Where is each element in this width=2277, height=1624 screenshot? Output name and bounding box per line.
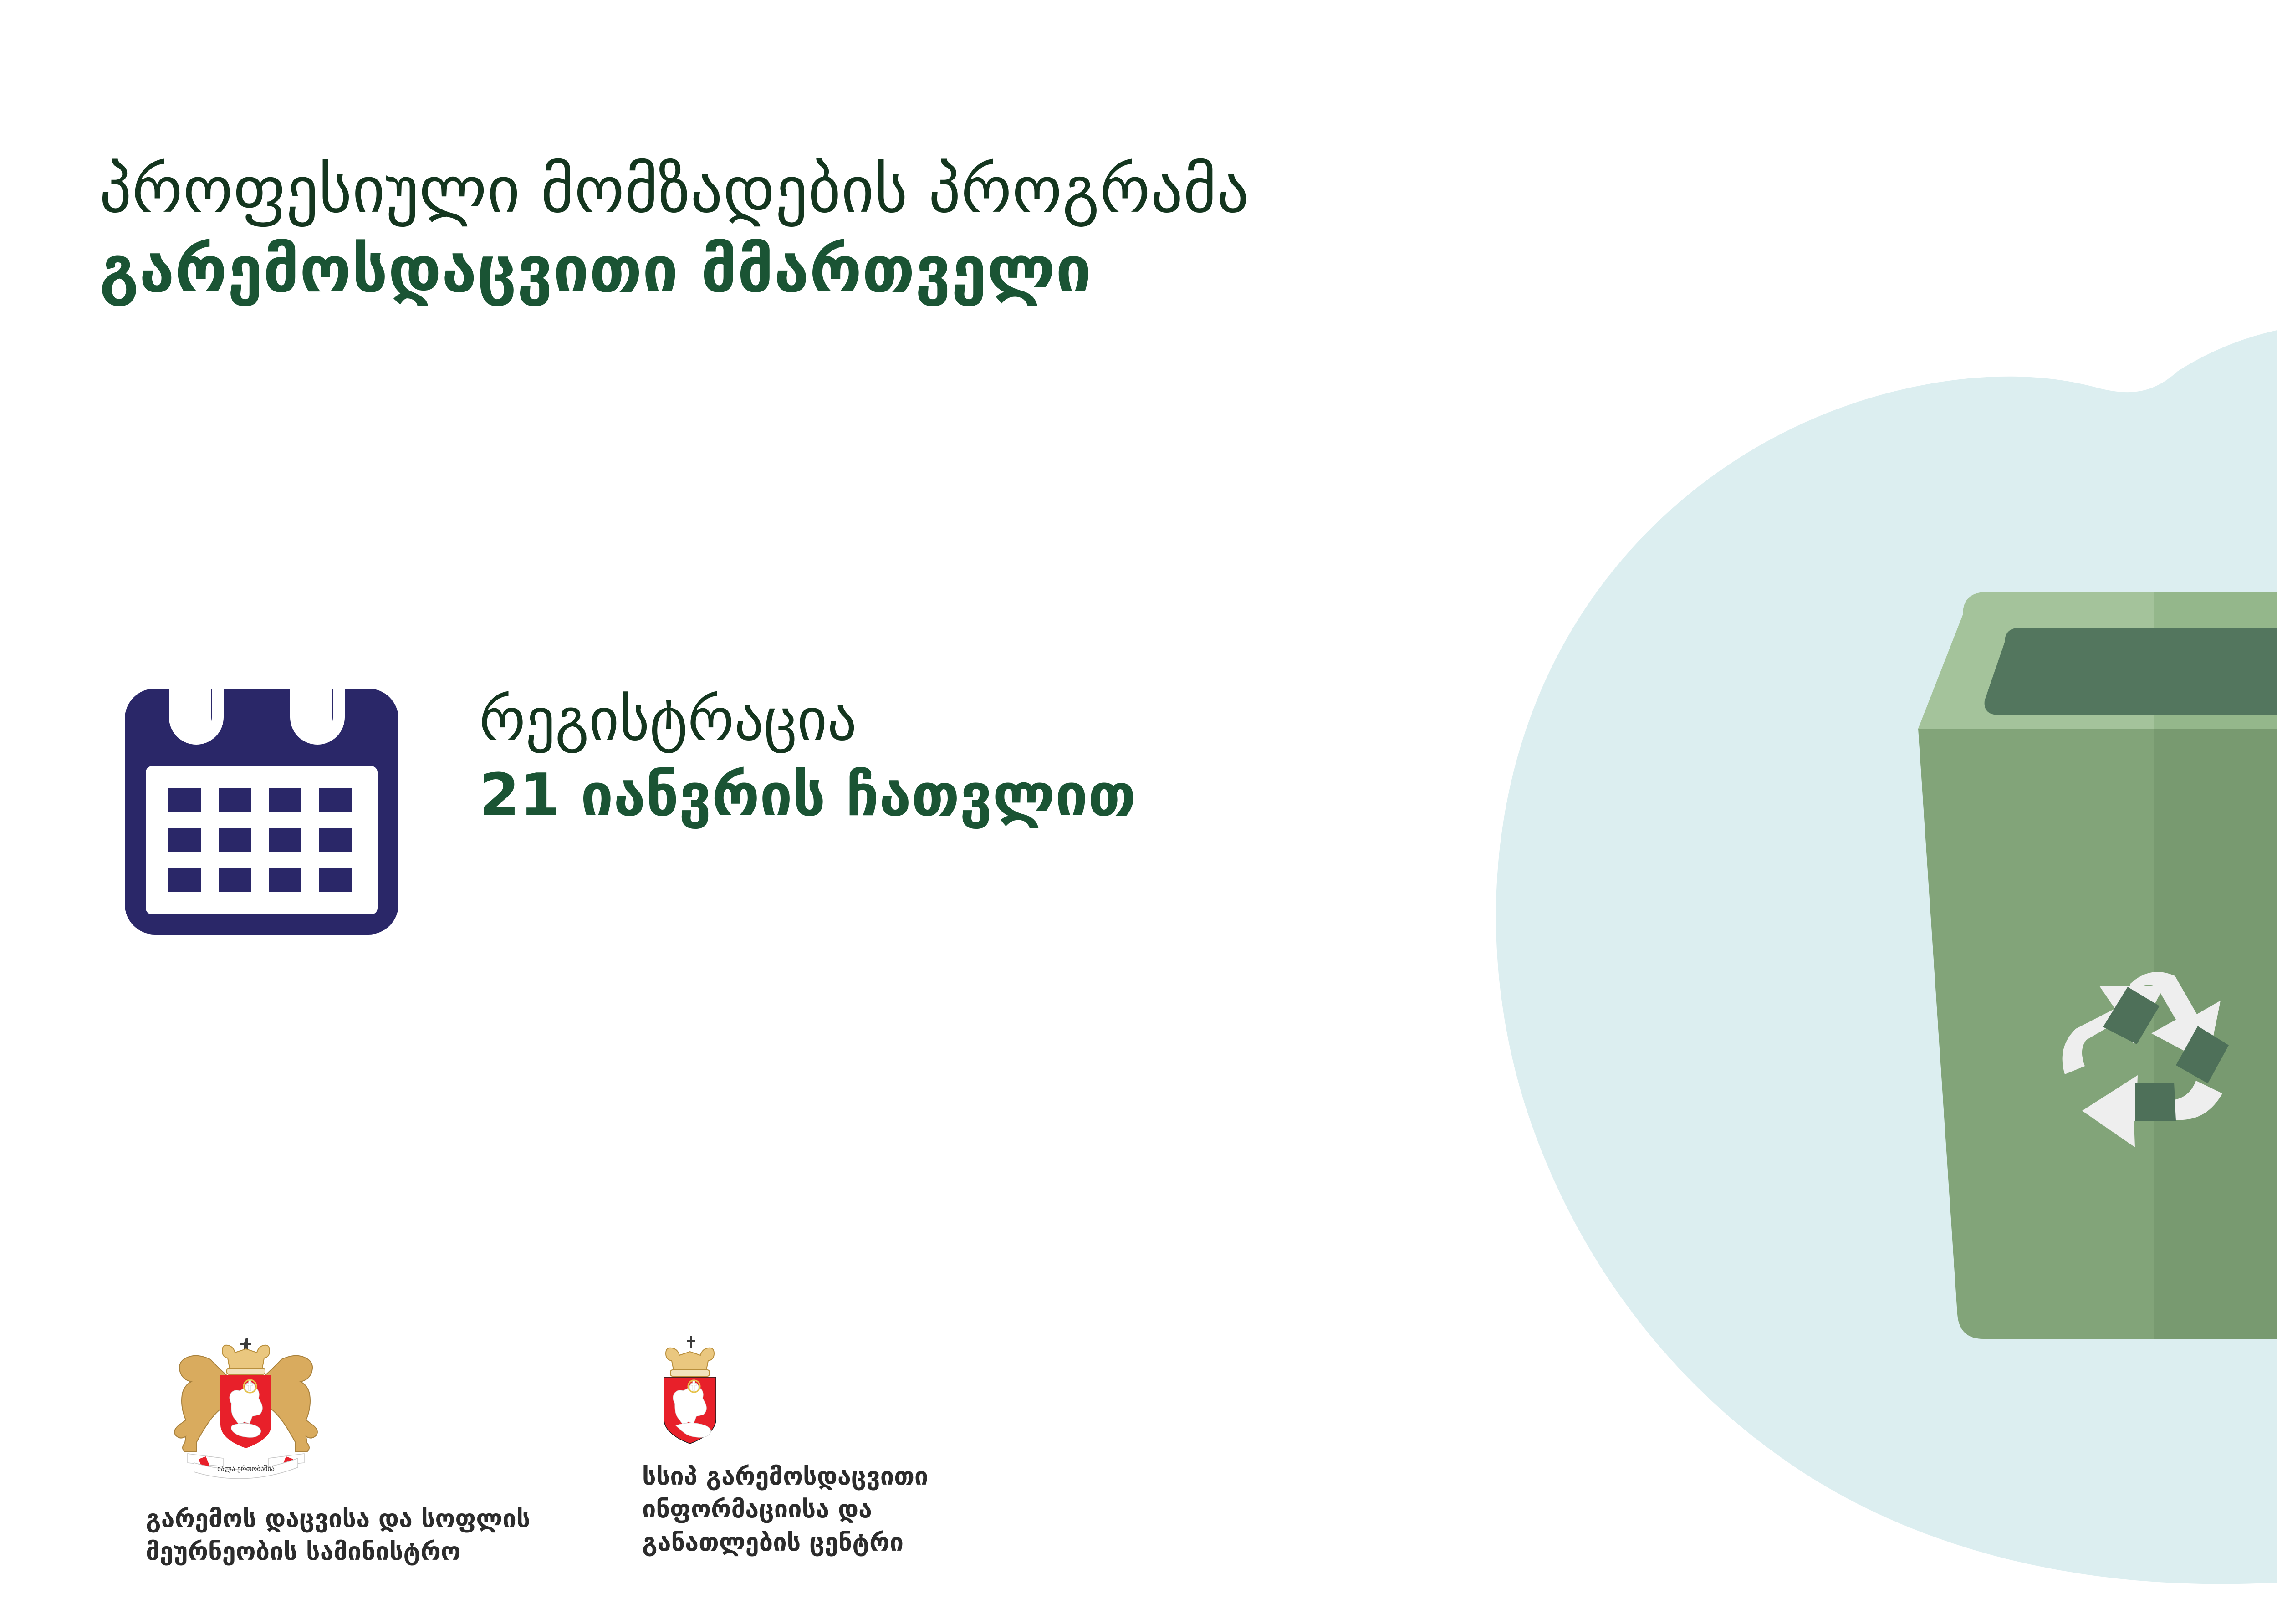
footer-logos: ძალა ერთობაშია გარემოს დაცვისა და სოფლის…: [146, 1334, 1052, 1568]
calendar-icon-wrap: [119, 651, 404, 943]
logo-block-center: სსიპ გარემოსდაცვითი ინფორმაციისა და განა…: [642, 1334, 1052, 1559]
registration-text: რეგისტრაცია 21 იანვრის ჩათვლით: [479, 651, 1136, 834]
georgia-coat-of-arms-icon: ძალა ერთობაშია: [155, 1334, 337, 1487]
recycling-bin-icon: [1890, 592, 2277, 1339]
logo-block-ministry: ძალა ერთობაშია გარემოს დაცვისა და სოფლის…: [146, 1334, 546, 1568]
title-line-program: პროფესიული მომზადების პროგრამა: [99, 150, 1921, 230]
title-line-course: გარემოსდაცვითი მმართველი: [99, 230, 1921, 310]
ministry-name: გარემოს დაცვისა და სოფლის მეურნეობის სამ…: [146, 1502, 530, 1568]
center-name: სსიპ გარემოსდაცვითი ინფორმაციისა და განა…: [642, 1460, 928, 1559]
illustration-area: [1462, 273, 2277, 1594]
registration-label: რეგისტრაცია: [479, 682, 1136, 758]
coat-of-arms-motto: ძალა ერთობაშია: [217, 1465, 275, 1473]
registration-block: რეგისტრაცია 21 იანვრის ჩათვლით: [119, 651, 1136, 943]
calendar-icon: [119, 651, 404, 943]
registration-deadline: 21 იანვრის ჩათვლით: [479, 758, 1136, 833]
poster-canvas: პროფესიული მომზადების პროგრამა გარემოსდა…: [0, 0, 2277, 1624]
page-title: პროფესიული მომზადების პროგრამა გარემოსდა…: [99, 150, 1921, 310]
crowned-shield-icon: [647, 1334, 733, 1448]
